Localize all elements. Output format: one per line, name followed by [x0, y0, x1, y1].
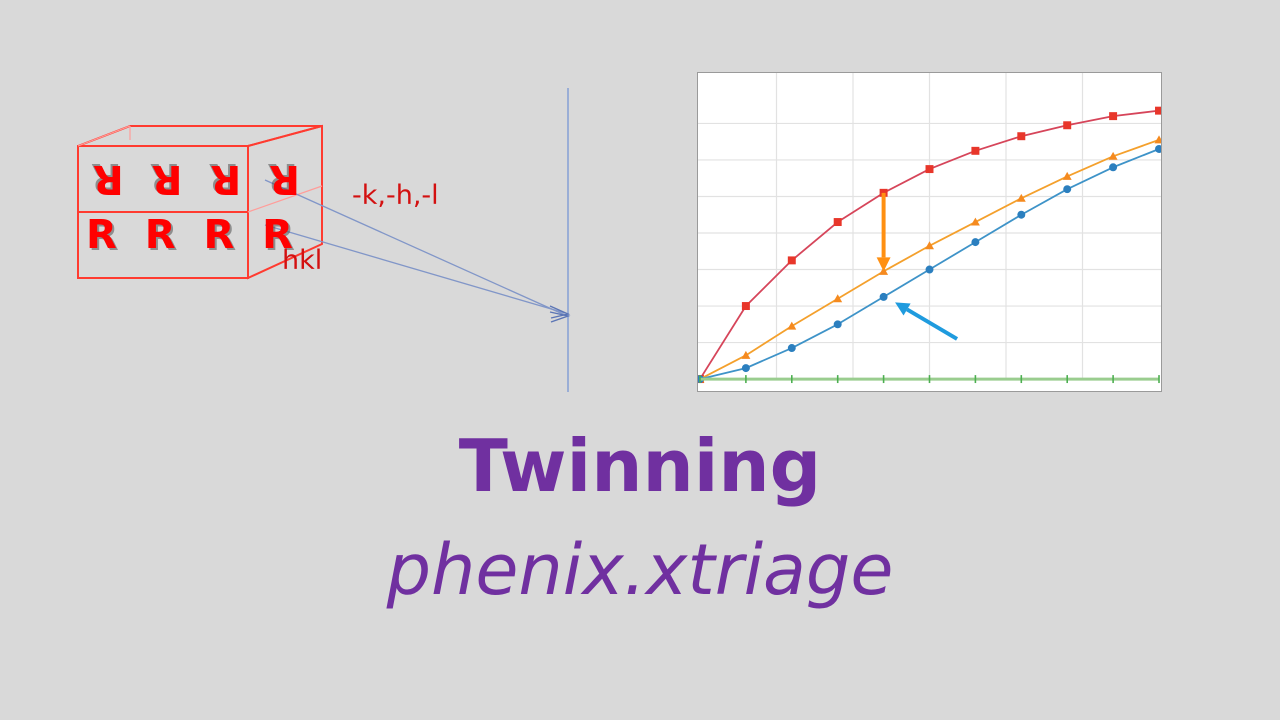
marker-circle	[1109, 163, 1117, 171]
slide-canvas: R R R R R R R R -k,-h,-l hkl Twinning ph…	[0, 0, 1280, 720]
marker-square	[1063, 121, 1071, 129]
marker-circle	[971, 238, 979, 246]
marker-square	[834, 218, 842, 226]
chart-svg	[698, 73, 1161, 391]
label-twin-operator: -k,-h,-l	[352, 180, 439, 211]
marker-triangle	[971, 218, 980, 226]
marker-circle	[1017, 211, 1025, 219]
lattice-row-flipped: R R R R	[86, 156, 300, 202]
marker-circle	[880, 293, 888, 301]
lattice-row-normal: R R R R	[86, 212, 300, 258]
marker-circle	[788, 344, 796, 352]
twin-lattice-diagram: R R R R R R R R -k,-h,-l hkl	[60, 120, 580, 410]
box-back-left-edge	[78, 126, 130, 146]
merge-arrowheads	[550, 306, 568, 322]
marker-triangle	[1155, 135, 1161, 143]
marker-circle	[742, 364, 750, 372]
annotation-shaft-blue-left-arrow	[907, 309, 957, 338]
marker-square	[1109, 112, 1117, 120]
marker-triangle	[925, 241, 934, 249]
marker-circle	[926, 266, 934, 274]
chart-gridlines	[698, 73, 1161, 379]
label-original-index: hkl	[282, 245, 322, 276]
marker-triangle	[1017, 194, 1026, 202]
page-subtitle: phenix.xtriage	[0, 535, 1280, 605]
page-title: Twinning	[0, 430, 1280, 502]
marker-circle	[1155, 145, 1161, 153]
chart-annotation-layer	[877, 193, 957, 339]
marker-triangle	[833, 294, 842, 302]
marker-triangle	[787, 322, 796, 330]
merge-axis-svg	[520, 80, 640, 410]
marker-square	[926, 165, 934, 173]
marker-circle	[1063, 185, 1071, 193]
intensity-statistics-chart[interactable]	[697, 72, 1162, 392]
marker-circle	[834, 320, 842, 328]
marker-square	[788, 256, 796, 264]
marker-square	[1155, 107, 1161, 115]
marker-square	[742, 302, 750, 310]
marker-square	[971, 147, 979, 155]
marker-triangle	[741, 351, 750, 359]
marker-square	[1017, 132, 1025, 140]
